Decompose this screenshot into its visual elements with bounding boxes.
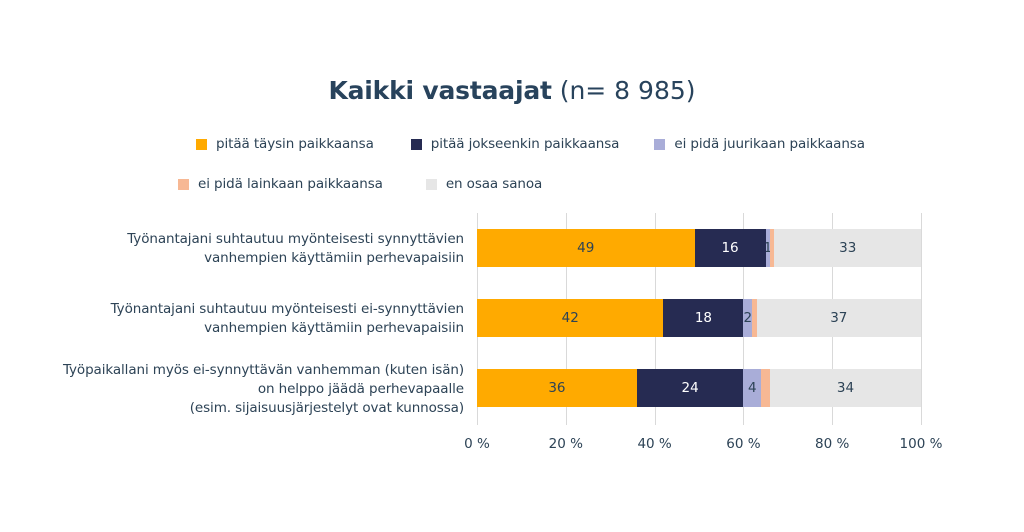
legend-row-2: ei pidä lainkaan paikkaansa en osaa sano…: [178, 171, 896, 197]
bar-value-label: 2: [744, 310, 753, 326]
legend-swatch-icon: [178, 179, 189, 190]
legend-row-1: pitää täysin paikkaansa pitää jokseenkin…: [196, 131, 896, 157]
legend-swatch-icon: [196, 139, 207, 150]
legend-item-en-osaa-sanoa[interactable]: en osaa sanoa: [426, 171, 542, 197]
category-label-line: on helppo jäädä perhevapaalle: [24, 380, 464, 399]
bar-segment[interactable]: 49: [477, 229, 695, 267]
legend-item-ei-pida-lainkaan-paikkaansa[interactable]: ei pidä lainkaan paikkaansa: [178, 171, 383, 197]
bar-value-label: 49: [577, 240, 594, 256]
chart-title-main: Kaikki vastaajat: [328, 76, 551, 105]
legend-swatch-icon: [411, 139, 422, 150]
bar-row: 4218237: [477, 299, 921, 337]
bar-segment[interactable]: 24: [637, 369, 744, 407]
bar-value-label: 34: [837, 380, 854, 396]
bar-segment[interactable]: 37: [757, 299, 921, 337]
bar-value-label: 42: [562, 310, 579, 326]
category-label-1: Työnantajani suhtautuu myönteisesti ei-s…: [24, 300, 464, 338]
bar-value-label: 18: [695, 310, 712, 326]
x-axis-tick-label: 20 %: [549, 436, 583, 452]
legend-swatch-icon: [426, 179, 437, 190]
x-axis-tick-label: 40 %: [637, 436, 671, 452]
chart-title: Kaikki vastaajat (n= 8 985): [0, 76, 1024, 106]
legend-item-pitaa-taysin-paikkaansa[interactable]: pitää täysin paikkaansa: [196, 131, 374, 157]
category-axis-labels: Työnantajani suhtautuu myönteisesti synn…: [24, 213, 464, 425]
bar-row: 3624434: [477, 369, 921, 407]
x-axis-tick-label: 60 %: [726, 436, 760, 452]
bar-segment[interactable]: 42: [477, 299, 663, 337]
x-axis-tick-label: 100 %: [900, 436, 943, 452]
legend-item-ei-pida-juurikaan-paikkaansa[interactable]: ei pidä juurikaan paikkaansa: [654, 131, 865, 157]
x-axis: 0 %20 %40 %60 %80 %100 %: [477, 436, 921, 460]
stacked-bar-chart: Kaikki vastaajat (n= 8 985) pitää täysin…: [0, 0, 1024, 532]
category-label-line: vanhempien käyttämiin perhevapaisiin: [24, 249, 464, 268]
category-label-line: (esim. sijaisuusjärjestelyt ovat kunnoss…: [24, 399, 464, 418]
category-label-line: Työpaikallani myös ei-synnyttävän vanhem…: [24, 361, 464, 380]
legend-item-pitaa-jokseenkin-paikkaansa[interactable]: pitää jokseenkin paikkaansa: [411, 131, 620, 157]
x-axis-tick-label: 80 %: [815, 436, 849, 452]
x-axis-tick-label: 0 %: [464, 436, 490, 452]
plot-area: 491613342182373624434: [477, 213, 921, 425]
bar-segment[interactable]: 36: [477, 369, 637, 407]
bar-segment[interactable]: [761, 369, 770, 407]
chart-legend: pitää täysin paikkaansa pitää jokseenkin…: [196, 131, 896, 197]
bar-value-label: 33: [839, 240, 856, 256]
bar-value-label: 36: [548, 380, 565, 396]
legend-item-label: en osaa sanoa: [446, 176, 542, 192]
bar-value-label: 24: [682, 380, 699, 396]
bar-segment[interactable]: 4: [743, 369, 761, 407]
legend-item-label: ei pidä lainkaan paikkaansa: [198, 176, 383, 192]
bar-row: 4916133: [477, 229, 921, 267]
bar-segment[interactable]: 18: [663, 299, 743, 337]
category-label-2: Työpaikallani myös ei-synnyttävän vanhem…: [24, 361, 464, 418]
gridline: [921, 213, 922, 425]
category-label-line: Työnantajani suhtautuu myönteisesti synn…: [24, 230, 464, 249]
bar-segment[interactable]: 2: [743, 299, 752, 337]
bar-segment[interactable]: 34: [770, 369, 921, 407]
bar-segment[interactable]: 33: [774, 229, 921, 267]
legend-swatch-icon: [654, 139, 665, 150]
chart-title-subtitle: (n= 8 985): [560, 76, 696, 105]
legend-item-label: ei pidä juurikaan paikkaansa: [674, 136, 865, 152]
category-label-line: Työnantajani suhtautuu myönteisesti ei-s…: [24, 300, 464, 319]
legend-item-label: pitää täysin paikkaansa: [216, 136, 374, 152]
category-label-line: vanhempien käyttämiin perhevapaisiin: [24, 319, 464, 338]
bar-value-label: 16: [721, 240, 738, 256]
bar-value-label: 4: [748, 380, 757, 396]
legend-item-label: pitää jokseenkin paikkaansa: [431, 136, 620, 152]
bar-value-label: 37: [830, 310, 847, 326]
bar-segment[interactable]: 16: [695, 229, 766, 267]
category-label-0: Työnantajani suhtautuu myönteisesti synn…: [24, 230, 464, 268]
